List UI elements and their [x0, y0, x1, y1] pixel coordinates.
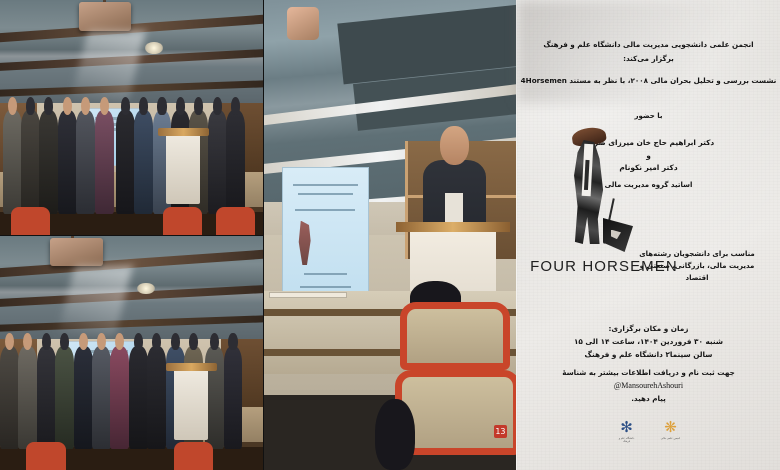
- flag-icon: [603, 218, 633, 252]
- poster-contact-handle[interactable]: @MansourehAshouri: [517, 379, 780, 392]
- podium: [166, 134, 200, 205]
- poster-subtitle: نشست بررسی و تحلیل بحران مالی ۲۰۰۸، با ن…: [517, 75, 780, 87]
- auditorium-seat: [26, 442, 65, 470]
- poster-audience-line-3: اقتصاد: [622, 272, 772, 284]
- flower-icon: ✻: [616, 420, 638, 435]
- podium: [174, 369, 208, 439]
- seat-number: 13: [494, 425, 507, 438]
- flower-icon: ❋: [660, 420, 682, 435]
- auditorium-seat: [174, 442, 213, 470]
- logo-caption: انجمن علمی مالی: [660, 437, 682, 440]
- poster-audience-line-2: مدیریت مالی، بازرگانی، صنعتی و: [622, 260, 772, 272]
- photo-center-speaker: 13: [264, 0, 516, 470]
- poster-organizer-line-2: برگزار می‌کند:: [517, 52, 780, 65]
- poster-organizer-line: انجمن علمی دانشجویی مدیریت مالی دانشگاه …: [517, 38, 780, 51]
- association-logo-gold: ❋ انجمن علمی مالی: [660, 420, 682, 444]
- auditorium-seat: [400, 302, 510, 370]
- power-outlets: [269, 292, 347, 297]
- poster-audience-line-1: مناسب برای دانشجویان رشته‌های: [622, 248, 772, 260]
- poster-when-place: سالن سینما۲ دانشگاه علم و فرهنگ: [517, 348, 780, 361]
- logo-caption: دانشگاه علم و فرهنگ: [616, 437, 638, 444]
- auditorium-seat: [216, 207, 255, 235]
- photo-top-left: [0, 0, 263, 235]
- event-poster: انجمن علمی دانشجویی مدیریت مالی دانشگاه …: [517, 0, 780, 470]
- poster-contact-line-2: پیام دهید.: [517, 392, 780, 405]
- attendee-head: [375, 399, 415, 470]
- poster-when-label: زمان و مکان برگزاری:: [517, 322, 780, 335]
- group-of-people: [0, 236, 263, 470]
- audience-seating: 13: [264, 291, 516, 470]
- ceiling-lamp: [287, 7, 320, 40]
- screenshot-canvas: 13 انجمن علمی دانشجویی مدیریت مالی دانشگ…: [0, 0, 780, 470]
- poster-logos: ✻ دانشگاه علم و فرهنگ ❋ انجمن علمی مالی: [517, 420, 780, 444]
- horseman-figure-icon: [551, 126, 631, 258]
- poster-with-label: با حضور: [517, 112, 780, 120]
- poster-when-date: شنبه ۳۰ فروردین ۱۴۰۴، ساعت ۱۴ الی ۱۵: [517, 335, 780, 348]
- horseman-graphic: [295, 221, 316, 266]
- group-of-people: [0, 0, 263, 235]
- photo-bottom-left: [0, 236, 263, 470]
- auditorium-seat: [163, 207, 202, 235]
- poster-contact-line-1: جهت ثبت نام و دریافت اطلاعات بیشتر به شن…: [517, 366, 780, 379]
- university-logo-blue: ✻ دانشگاه علم و فرهنگ: [616, 420, 638, 444]
- auditorium-seat: [11, 207, 50, 235]
